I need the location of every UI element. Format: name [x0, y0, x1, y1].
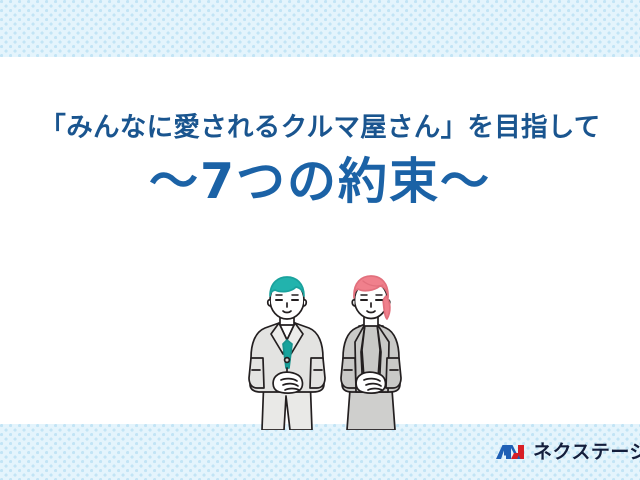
nextage-n-mark-icon	[496, 442, 526, 463]
brand-logo: ネクステージ	[496, 438, 640, 466]
page-title: 「みんなに愛されるクルマ屋さん」を目指して	[0, 112, 640, 144]
staff-illustration	[243, 272, 423, 430]
male-staff-figure	[249, 277, 325, 430]
staff-illustration-graphic	[243, 272, 423, 430]
brand-wordmark: ネクステージ	[533, 443, 640, 462]
female-staff-figure	[341, 276, 401, 430]
page-subtitle: 〜7つの約束〜	[0, 156, 640, 209]
headline-block: 「みんなに愛されるクルマ屋さん」を目指して 〜7つの約束〜	[0, 112, 640, 209]
promo-banner: 「みんなに愛されるクルマ屋さん」を目指して 〜7つの約束〜	[0, 0, 640, 480]
dot-pattern-band-top	[0, 0, 640, 57]
